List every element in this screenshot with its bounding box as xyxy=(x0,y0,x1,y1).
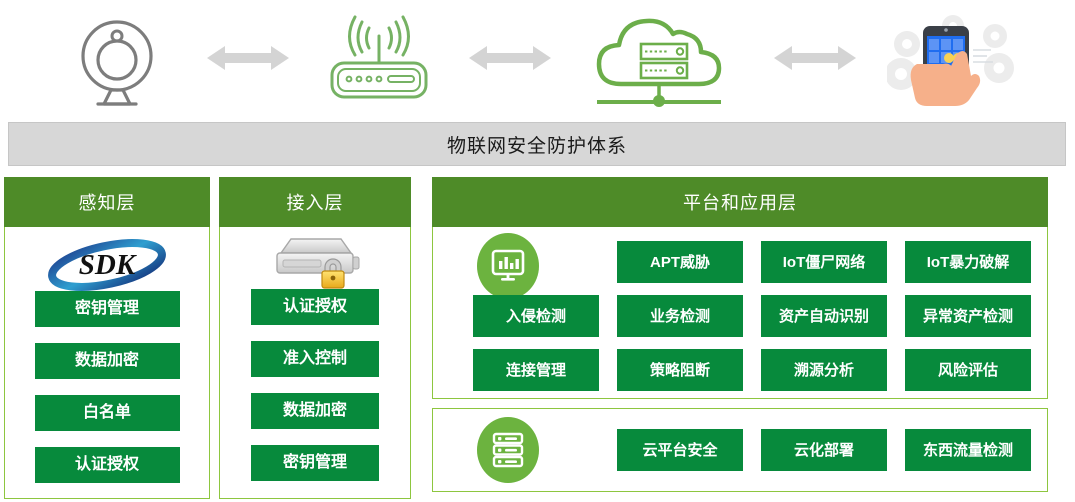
perception-item-2[interactable]: 白名单 xyxy=(35,395,180,431)
cloud-feature-row: 云平台安全 云化部署 东西流量检测 xyxy=(473,421,1033,479)
access-item-1[interactable]: 准入控制 xyxy=(251,341,379,377)
banner-title-bar: 物联网安全防护体系 xyxy=(8,122,1066,166)
server-lock-icon xyxy=(220,231,410,289)
device-flow-strip xyxy=(0,0,1075,116)
access-item-2[interactable]: 数据加密 xyxy=(251,393,379,429)
perception-item-1[interactable]: 数据加密 xyxy=(35,343,180,379)
panel-platform-body: APT威胁 IoT僵尸网络 IoT暴力破解 入侵检测 业务检测 资产自动识别 异… xyxy=(432,227,1048,399)
platform-item-2-0[interactable]: 连接管理 xyxy=(473,349,599,391)
page-title: 物联网安全防护体系 xyxy=(447,131,627,158)
platform-icon-slot xyxy=(473,241,599,283)
perception-item-0[interactable]: 密钥管理 xyxy=(35,291,180,327)
sdk-logo-text: SDK xyxy=(79,249,137,281)
platform-item-0-2[interactable]: IoT僵尸网络 xyxy=(761,241,887,283)
panel-access-title: 接入层 xyxy=(219,177,411,227)
access-item-0[interactable]: 认证授权 xyxy=(251,289,379,325)
platform-item-1-0[interactable]: 入侵检测 xyxy=(473,295,599,337)
access-item-3[interactable]: 密钥管理 xyxy=(251,445,379,481)
platform-item-2-2[interactable]: 溯源分析 xyxy=(761,349,887,391)
webcam-icon xyxy=(58,8,176,108)
cloud-item-3[interactable]: 东西流量检测 xyxy=(905,429,1031,471)
panel-perception-title: 感知层 xyxy=(4,177,210,227)
panel-perception-layer: 感知层 SDK xyxy=(4,177,210,499)
perception-item-3[interactable]: 认证授权 xyxy=(35,447,180,483)
hand-phone-app-icon xyxy=(887,8,1017,108)
platform-item-1-3[interactable]: 异常资产检测 xyxy=(905,295,1031,337)
double-arrow-icon xyxy=(772,38,858,78)
panel-platform-title: 平台和应用层 xyxy=(432,177,1048,227)
platform-item-1-1[interactable]: 业务检测 xyxy=(617,295,743,337)
wifi-router-icon xyxy=(320,8,438,108)
panel-access-body: 认证授权 准入控制 数据加密 密钥管理 xyxy=(219,227,411,499)
panel-platform-layer: 平台和应用层 APT威胁 IoT僵尸网络 IoT暴力破解 入侵检测 业务检测 xyxy=(432,177,1048,399)
platform-item-0-3[interactable]: IoT暴力破解 xyxy=(905,241,1031,283)
panel-access-layer: 接入层 xyxy=(219,177,411,499)
platform-item-2-3[interactable]: 风险评估 xyxy=(905,349,1031,391)
cloud-item-2[interactable]: 云化部署 xyxy=(761,429,887,471)
sdk-logo: SDK xyxy=(5,233,209,291)
platform-item-2-1[interactable]: 策略阻断 xyxy=(617,349,743,391)
double-arrow-icon xyxy=(205,38,291,78)
panel-cloud-layer: 云平台安全 云化部署 东西流量检测 xyxy=(432,408,1048,492)
panel-perception-body: SDK 密钥管理 数据加密 白名单 认证授权 xyxy=(4,227,210,499)
cloud-server-icon xyxy=(583,8,743,108)
double-arrow-icon xyxy=(467,38,553,78)
platform-feature-grid: APT威胁 IoT僵尸网络 IoT暴力破解 入侵检测 业务检测 资产自动识别 异… xyxy=(473,241,1033,391)
platform-item-0-1[interactable]: APT威胁 xyxy=(617,241,743,283)
cloud-item-1[interactable]: 云平台安全 xyxy=(617,429,743,471)
platform-item-1-2[interactable]: 资产自动识别 xyxy=(761,295,887,337)
